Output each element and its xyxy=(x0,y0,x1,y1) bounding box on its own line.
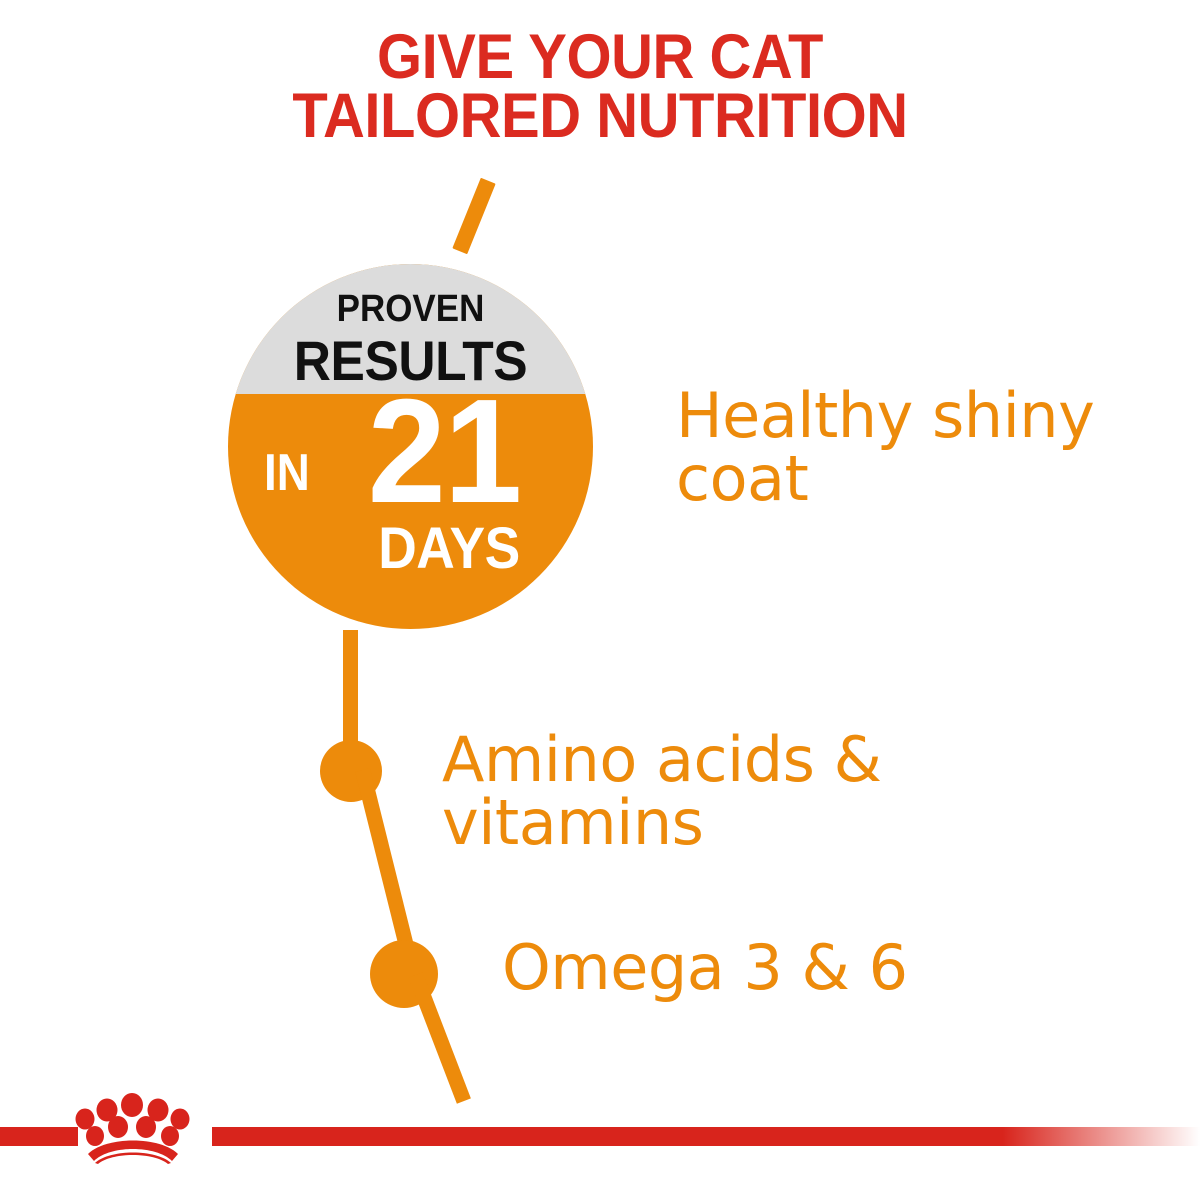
headline-line-1: GIVE YOUR CAT xyxy=(48,28,1152,87)
benefit-label-healthy-shiny-coat: Healthy shiny coat xyxy=(676,384,1146,510)
infographic-canvas: GIVE YOUR CAT TAILORED NUTRITION PROVEN … xyxy=(0,0,1200,1200)
badge-days-number: 21 xyxy=(321,378,568,526)
badge-days-label: DAYS xyxy=(334,520,564,578)
page-title: GIVE YOUR CAT TAILORED NUTRITION xyxy=(48,28,1152,146)
royal-canin-crown-icon xyxy=(74,1092,192,1164)
proven-results-badge: PROVEN RESULTS IN 21 DAYS xyxy=(228,264,593,629)
benefit-label-omega-3-6: Omega 3 & 6 xyxy=(502,936,1022,999)
benefit-label-amino-acids-vitamins: Amino acids & vitamins xyxy=(442,728,962,854)
badge-proven-label: PROVEN xyxy=(243,288,579,331)
connector-stub-icon xyxy=(452,178,495,254)
connector-segment-3 xyxy=(408,972,470,1103)
footer-bar-right xyxy=(212,1127,1200,1146)
footer-bar-left xyxy=(0,1127,78,1146)
headline-line-2: TAILORED NUTRITION xyxy=(48,87,1152,146)
badge-in-label: IN xyxy=(264,447,310,499)
